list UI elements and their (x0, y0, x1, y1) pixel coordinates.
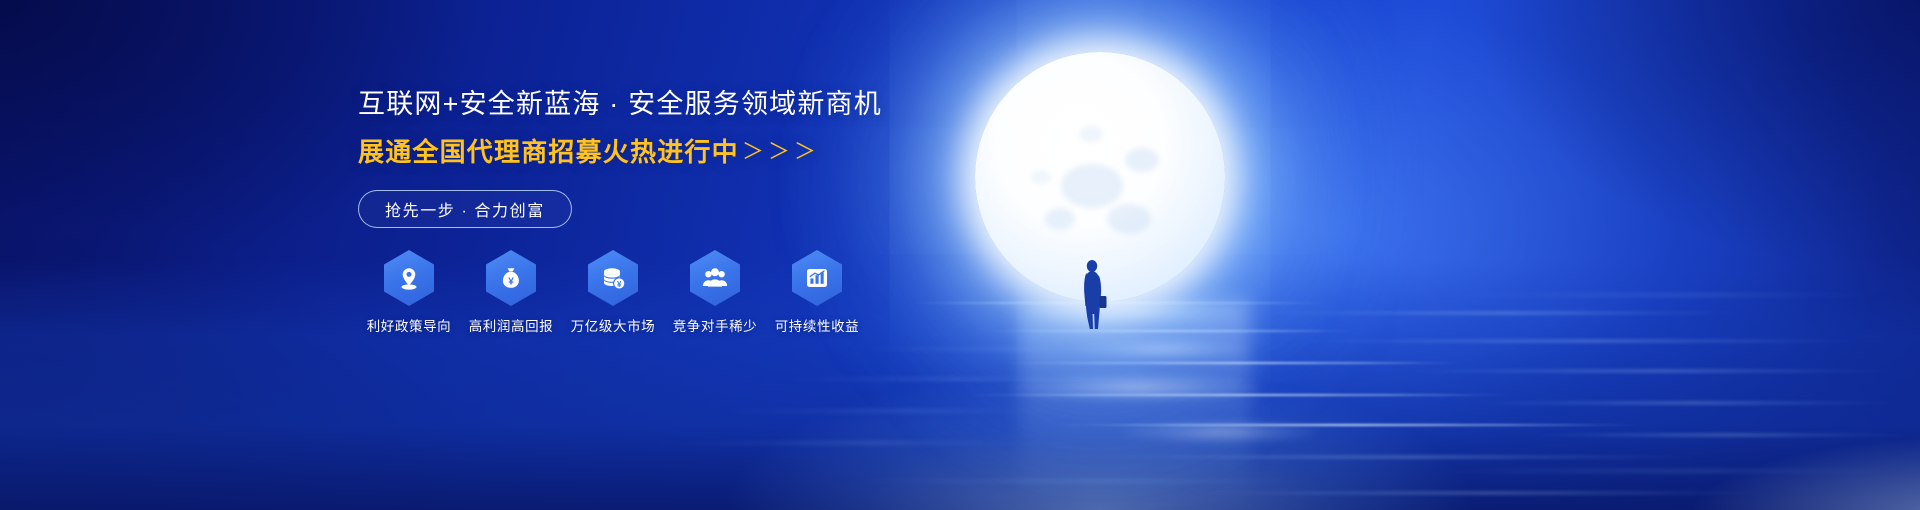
chevron-right-icon: ＞＞＞ (742, 139, 820, 165)
hero-banner: 互联网+安全新蓝海 · 安全服务领域新商机 展通全国代理商招募火热进行中 ＞＞＞… (0, 0, 1920, 510)
feature-icon-badge (690, 250, 740, 306)
person-silhouette-icon (1075, 258, 1109, 330)
cta-button[interactable]: 抢先一步 · 合力创富 (358, 190, 572, 228)
feature-icon-badge: ¥ (588, 250, 638, 306)
feature-label: 竞争对手稀少 (673, 315, 758, 335)
page-title: 互联网+安全新蓝海 · 安全服务领域新商机 (358, 88, 918, 122)
people-group-icon (701, 264, 729, 292)
subtitle-text: 展通全国代理商招募火热进行中 (358, 137, 739, 168)
svg-text:¥: ¥ (617, 280, 622, 289)
subtitle: 展通全国代理商招募火热进行中 ＞＞＞ (358, 137, 918, 168)
feature-list: 利好政策导向 ¥ 高利润高回报 (358, 250, 868, 335)
banner-content: 互联网+安全新蓝海 · 安全服务领域新商机 展通全国代理商招募火热进行中 ＞＞＞… (358, 88, 918, 228)
feature-icon-badge (792, 250, 842, 306)
feature-item-profit[interactable]: ¥ 高利润高回报 (460, 250, 562, 335)
feature-label: 万亿级大市场 (571, 315, 656, 335)
feature-item-competition[interactable]: 竞争对手稀少 (664, 250, 766, 335)
feature-item-policy[interactable]: 利好政策导向 (358, 250, 460, 335)
money-bag-icon: ¥ (497, 264, 525, 292)
feature-item-market[interactable]: ¥ 万亿级大市场 (562, 250, 664, 335)
feature-label: 利好政策导向 (367, 315, 452, 335)
feature-label: 高利润高回报 (469, 315, 554, 335)
feature-label: 可持续性收益 (775, 315, 860, 335)
feature-icon-badge: ¥ (486, 250, 536, 306)
svg-text:¥: ¥ (508, 276, 514, 287)
location-pin-icon (395, 264, 423, 292)
feature-item-sustainable[interactable]: 可持续性收益 (766, 250, 868, 335)
coin-stack-icon: ¥ (599, 264, 627, 292)
bar-chart-icon (803, 264, 831, 292)
feature-icon-badge (384, 250, 434, 306)
